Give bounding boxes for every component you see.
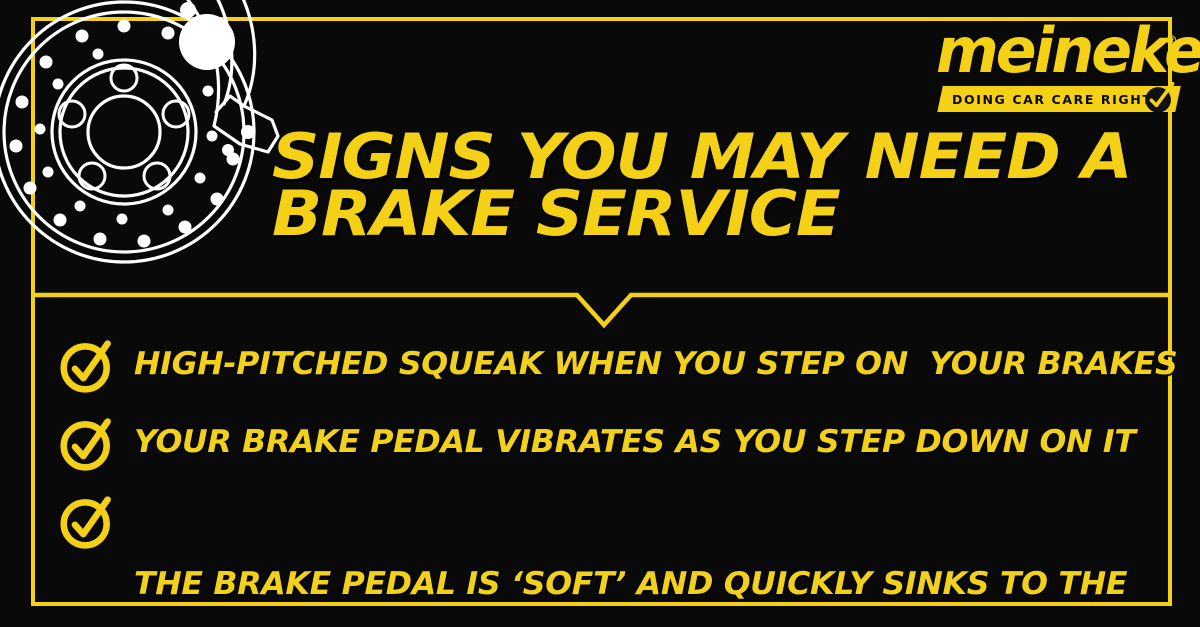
- page-title-line-2: BRAKE SERVICE: [272, 185, 1152, 242]
- list-item: THE BRAKE PEDAL IS ‘SOFT’ AND QUICKLY SI…: [60, 496, 1170, 627]
- list-item-text: YOUR BRAKE PEDAL VIBRATES AS YOU STEP DO…: [134, 418, 1136, 460]
- list-item-text: HIGH-PITCHED SQUEAK WHEN YOU STEP ON YOU…: [134, 340, 1177, 382]
- symptom-list: HIGH-PITCHED SQUEAK WHEN YOU STEP ON YOU…: [60, 340, 1170, 627]
- check-circle-icon: [60, 338, 116, 394]
- logo-wordmark: meineke: [936, 20, 1173, 82]
- page-title: SIGNS YOU MAY NEED A BRAKE SERVICE: [272, 128, 1102, 242]
- logo-tagline-text: DOING CAR CARE RIGHT: [952, 92, 1152, 107]
- check-circle-icon: [60, 416, 116, 472]
- infographic-poster: meineke ® DOING CAR CARE RIGHT SIGNS YOU…: [0, 0, 1200, 627]
- list-item-text-line-1: THE BRAKE PEDAL IS ‘SOFT’ AND QUICKLY SI…: [134, 567, 1127, 602]
- section-divider: [31, 276, 1172, 332]
- meineke-logo: meineke ® DOING CAR CARE RIGHT: [936, 24, 1180, 116]
- list-item-text: THE BRAKE PEDAL IS ‘SOFT’ AND QUICKLY SI…: [134, 496, 1127, 627]
- check-circle-icon: [1142, 82, 1176, 116]
- list-item: YOUR BRAKE PEDAL VIBRATES AS YOU STEP DO…: [60, 418, 1170, 472]
- brake-rotor-illustration: [0, 0, 302, 284]
- list-item: HIGH-PITCHED SQUEAK WHEN YOU STEP ON YOU…: [60, 340, 1170, 394]
- check-circle-icon: [60, 494, 116, 550]
- registered-trademark-icon: ®: [1165, 34, 1178, 49]
